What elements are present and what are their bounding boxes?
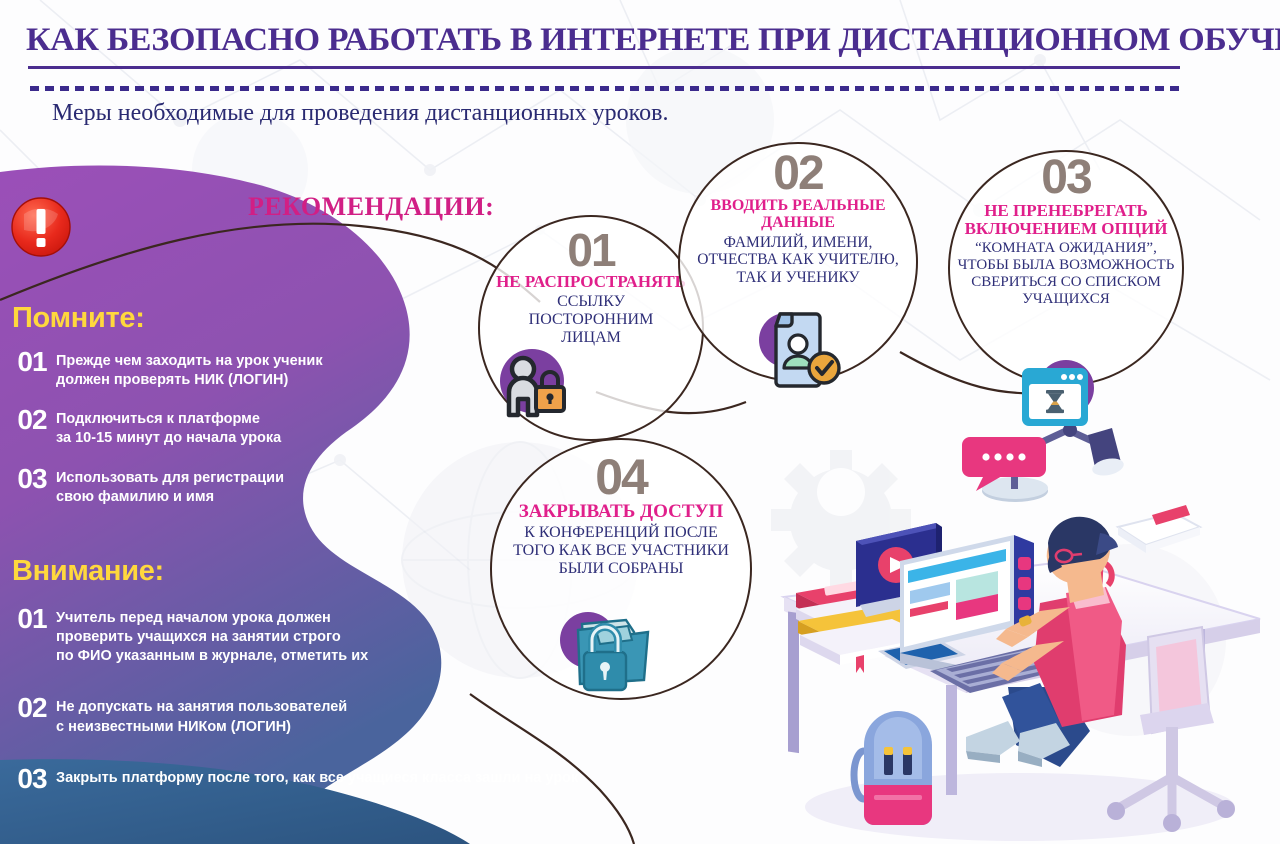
item-text: Учитель перед началом урока должен прове… — [56, 605, 368, 666]
list-item: 02 Подключиться к платформе за 10-15 мин… — [8, 406, 428, 448]
warning-exclamation-icon — [10, 196, 72, 258]
circle-number: 03 — [1041, 156, 1090, 200]
infographic-poster: КАК БЕЗОПАСНО РАБОТАТЬ В ИНТЕРНЕТЕ ПРИ Д… — [0, 0, 1280, 844]
circle-number: 04 — [595, 454, 647, 500]
item-number: 01 — [8, 605, 56, 633]
dashed-divider — [30, 86, 1180, 91]
panel-heading-attention: Внимание: — [12, 555, 164, 588]
item-text: Использовать для регистрации свою фамили… — [56, 465, 284, 507]
list-remember: 01 Прежде чем заходить на урок ученик до… — [8, 348, 428, 523]
circle-heading: НЕ ПРЕНЕБРЕГАТЬ ВКЛЮЧЕНИЕМ ОПЦИЙ — [965, 202, 1168, 238]
page-subtitle: Меры необходимые для проведения дистанци… — [52, 100, 668, 127]
recommendation-circle-03: 03 НЕ ПРЕНЕБРЕГАТЬ ВКЛЮЧЕНИЕМ ОПЦИЙ “КОМ… — [948, 150, 1184, 386]
item-text: Закрыть платформу после того, как все уч… — [56, 765, 578, 788]
item-text: Подключиться к платформе за 10-15 минут … — [56, 406, 281, 448]
item-number: 03 — [8, 465, 56, 493]
item-number: 02 — [8, 406, 56, 434]
circle-number: 01 — [567, 229, 614, 271]
item-text: Прежде чем заходить на урок ученик долже… — [56, 348, 323, 390]
list-item: 03 Закрыть платформу после того, как все… — [8, 765, 708, 793]
backpack — [854, 711, 932, 825]
item-number: 02 — [8, 694, 56, 722]
open-book — [1118, 505, 1200, 553]
circle-heading: ВВОДИТЬ РЕАЛЬНЫЕ ДАННЫЕ — [680, 198, 916, 232]
verified-document-icon — [752, 298, 848, 394]
circle-body: “КОМНАТА ОЖИДАНИЯ”, ЧТОБЫ БЫЛА ВОЗМОЖНОС… — [958, 240, 1175, 308]
item-number: 03 — [8, 765, 56, 793]
circle-heading: ЗАКРЫВАТЬ ДОСТУП — [519, 502, 724, 522]
item-text: Не допускать на занятия пользователей с … — [56, 694, 347, 736]
waiting-room-hourglass-icon — [1008, 352, 1104, 444]
panel-heading-remember: Помните: — [12, 302, 145, 335]
person-lock-icon — [490, 337, 582, 429]
list-item: 01 Прежде чем заходить на урок ученик до… — [8, 348, 428, 390]
circle-heading: НЕ РАСПРОСТРАНЯТЬ — [496, 273, 686, 291]
student-at-desk-illustration — [770, 415, 1280, 844]
list-item: 03 Использовать для регистрации свою фам… — [8, 465, 428, 507]
circle-body: ФАМИЛИЙ, ИМЕНИ, ОТЧЕСТВА КАК УЧИТЕЛЮ, ТА… — [697, 234, 898, 287]
circle-body: К КОНФЕРЕНЦИЙ ПОСЛЕ ТОГО КАК ВСЕ УЧАСТНИ… — [513, 524, 729, 578]
recommendations-heading: РЕКОМЕНДАЦИИ: — [248, 192, 494, 222]
page-title: КАК БЕЗОПАСНО РАБОТАТЬ В ИНТЕРНЕТЕ ПРИ Д… — [26, 22, 1241, 59]
circle-number: 02 — [773, 152, 822, 196]
item-number: 01 — [8, 348, 56, 376]
title-underline — [28, 66, 1180, 69]
folder-lock-icon — [552, 596, 658, 702]
